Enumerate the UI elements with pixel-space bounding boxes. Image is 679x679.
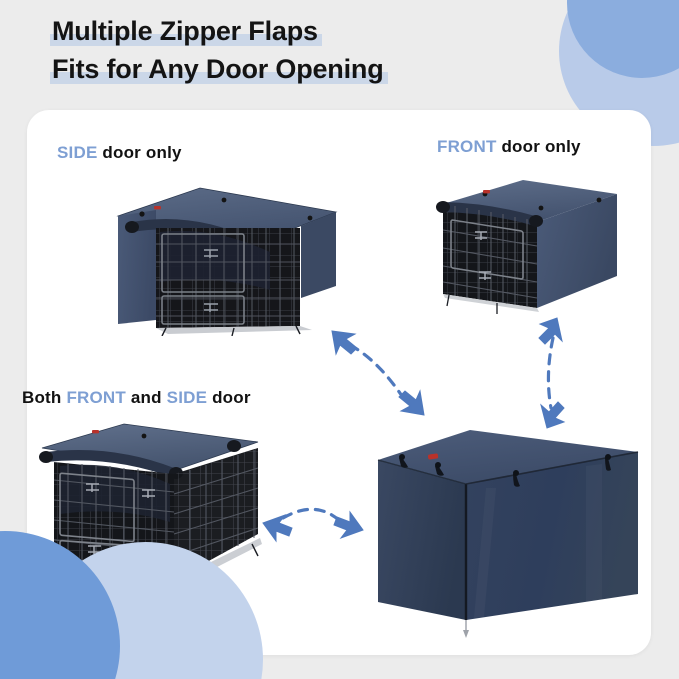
heading-line-2: Fits for Any Door Opening — [52, 50, 384, 88]
heading-line-2-text: Fits for Any Door Opening — [52, 54, 384, 84]
panel-label-front-door-only: FRONT door only — [437, 137, 581, 157]
crate-image-side-door-only — [104, 178, 340, 336]
heading-block: Multiple Zipper Flaps Fits for Any Door … — [52, 12, 612, 88]
panel-label-side-door-only: SIDE door only — [57, 143, 182, 163]
panel-label-both-accent-side: SIDE — [167, 388, 207, 407]
panel-label-side-accent: SIDE — [57, 143, 97, 162]
panel-label-both-suffix: door — [207, 388, 251, 407]
panel-label-both-middle: and — [126, 388, 167, 407]
crate-image-fully-covered — [366, 424, 648, 650]
crate-image-front-door-only — [427, 172, 627, 314]
heading-line-1: Multiple Zipper Flaps — [52, 12, 318, 50]
panel-label-both-accent-front: FRONT — [66, 388, 126, 407]
panel-label-side-rest: door only — [97, 143, 181, 162]
infographic-canvas: Multiple Zipper Flaps Fits for Any Door … — [0, 0, 679, 679]
panel-label-front-rest: door only — [497, 137, 581, 156]
heading-line-1-text: Multiple Zipper Flaps — [52, 16, 318, 46]
panel-label-both-prefix: Both — [22, 388, 66, 407]
panel-label-front-accent: FRONT — [437, 137, 497, 156]
panel-label-both-doors: Both FRONT and SIDE door — [22, 388, 251, 408]
